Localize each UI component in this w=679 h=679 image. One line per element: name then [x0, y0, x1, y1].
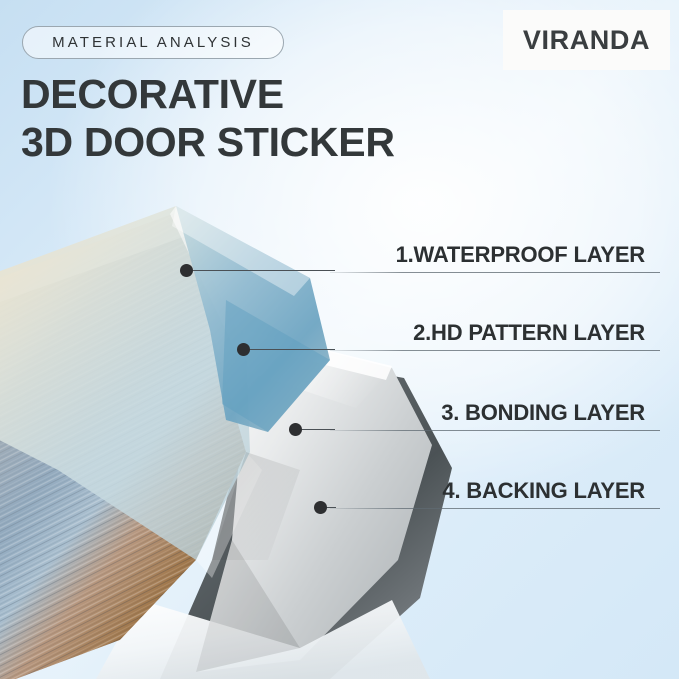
poster-canvas: 1.WATERPROOF LAYER 2.HD PATTERN LAYER 3.…	[0, 0, 679, 679]
callout-hd-pattern-layer: 2.HD PATTERN LAYER	[330, 320, 660, 351]
callout-bonding-layer: 3. BONDING LAYER	[330, 400, 660, 431]
callout-backing-layer: 4. BACKING LAYER	[330, 478, 660, 509]
callout-dot-3	[289, 423, 302, 436]
callout-dot-4	[314, 501, 327, 514]
brand-logo: VIRANDA	[503, 10, 670, 70]
callout-dot-2	[237, 343, 250, 356]
badge-label: MATERIAL ANALYSIS	[52, 34, 254, 51]
callout-label-4: 4. BACKING LAYER	[330, 478, 660, 508]
headline-line-1: DECORATIVE	[21, 70, 541, 118]
callout-label-3: 3. BONDING LAYER	[330, 400, 660, 430]
leader-line-1	[190, 270, 335, 271]
callout-waterproof-layer: 1.WATERPROOF LAYER	[330, 242, 660, 273]
brand-name: VIRANDA	[523, 25, 650, 56]
callout-dot-1	[180, 264, 193, 277]
headline-line-2: 3D DOOR STICKER	[21, 118, 541, 166]
leader-line-2	[247, 349, 335, 350]
callout-label-2: 2.HD PATTERN LAYER	[330, 320, 660, 350]
callout-rule-4	[330, 508, 660, 509]
material-analysis-badge: MATERIAL ANALYSIS	[22, 26, 284, 59]
page-title: DECORATIVE 3D DOOR STICKER	[21, 70, 541, 166]
callout-rule-2	[330, 350, 660, 351]
callout-rule-1	[330, 272, 660, 273]
callout-rule-3	[330, 430, 660, 431]
callout-label-1: 1.WATERPROOF LAYER	[330, 242, 660, 272]
